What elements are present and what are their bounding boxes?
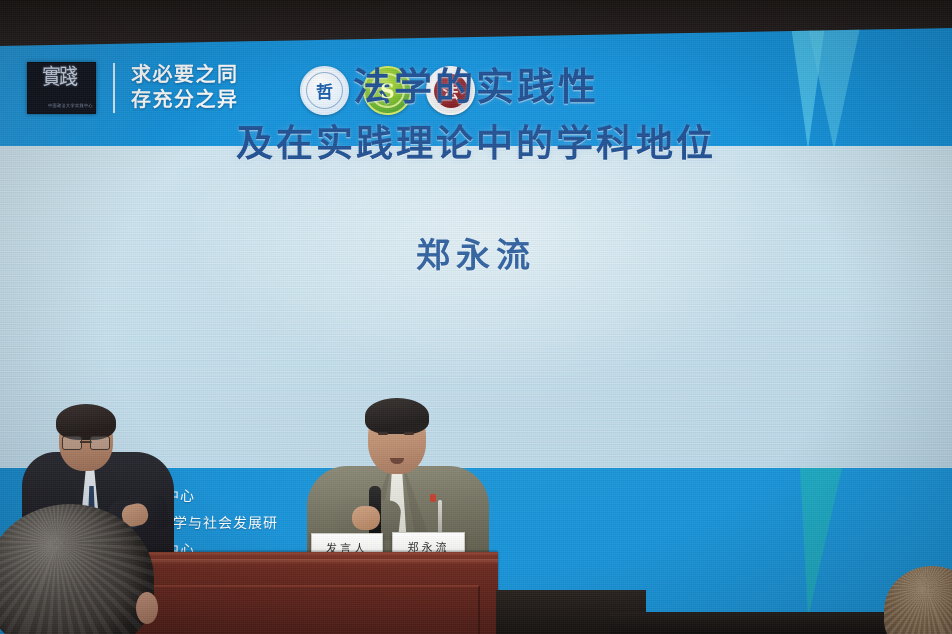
- conference-table: [108, 552, 498, 634]
- table-highlight: [108, 559, 498, 564]
- glasses-lens-right: [90, 436, 110, 450]
- conference-photo: 實踐 中国政法大学实践中心 求必要之同 存充分之异 哲 S 法 法学的实践性 及…: [0, 0, 952, 634]
- microphone-cable: [438, 500, 442, 534]
- slide-title-line-2: 及在实践理论中的学科地位: [0, 115, 952, 172]
- panelist-glasses-icon: [62, 436, 110, 448]
- table-front-panel: [132, 585, 480, 634]
- speaker-badge-icon: [430, 494, 436, 502]
- university-emblem-glyph: 哲: [316, 78, 333, 103]
- slide-title-line-1: 法学的实践性: [0, 58, 952, 115]
- glasses-lens-left: [62, 436, 82, 450]
- speaker-eye-right: [404, 432, 414, 435]
- slide-author: 郑永流: [0, 228, 952, 277]
- slide-title: 法学的实践性 及在实践理论中的学科地位: [0, 58, 952, 172]
- society-emblem-glyph: S: [380, 79, 394, 103]
- lower-band-wedge-icon: [800, 468, 842, 618]
- speaker-hand: [352, 506, 380, 530]
- audience-ear-left: [136, 592, 158, 624]
- speaker-hair: [365, 398, 429, 434]
- speaker-eye-left: [378, 432, 388, 435]
- projection-screen: [0, 146, 952, 472]
- panelist-hair: [56, 404, 116, 440]
